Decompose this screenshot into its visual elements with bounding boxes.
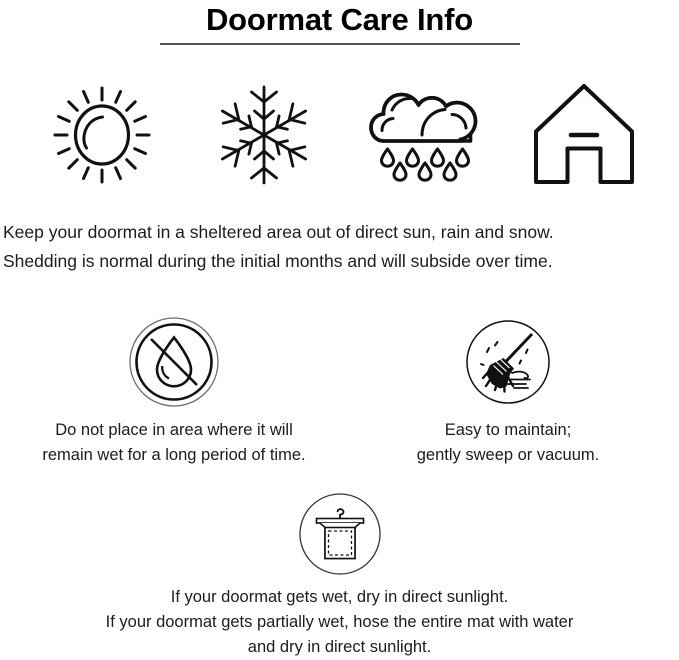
broom-icon xyxy=(462,316,554,408)
house-icon xyxy=(524,75,644,195)
care-line-3: and dry in direct sunlight. xyxy=(0,635,679,660)
care-caption-no-water: Do not place in area where it will remai… xyxy=(4,418,344,468)
weather-icon-row xyxy=(0,75,679,195)
care-line-1: Easy to maintain; xyxy=(338,418,678,443)
rain-cloud-icon xyxy=(364,75,484,195)
care-line-1: If your doormat gets wet, dry in direct … xyxy=(0,585,679,610)
intro-paragraph: Keep your doormat in a sheltered area ou… xyxy=(0,218,679,276)
snowflake-icon xyxy=(204,75,324,195)
care-item-no-water: Do not place in area where it will remai… xyxy=(4,316,344,468)
hang-to-dry-icon xyxy=(298,492,382,576)
care-line-2: If your doormat gets partially wet, hose… xyxy=(0,610,679,635)
care-item-hang-dry: If your doormat gets wet, dry in direct … xyxy=(0,492,679,660)
care-caption-hang-dry: If your doormat gets wet, dry in direct … xyxy=(0,585,679,660)
no-water-icon xyxy=(128,316,220,408)
intro-line-1: Keep your doormat in a sheltered area ou… xyxy=(3,218,679,247)
title-block: Doormat Care Info xyxy=(0,0,679,45)
care-caption-sweep: Easy to maintain; gently sweep or vacuum… xyxy=(338,418,678,468)
care-line-2: gently sweep or vacuum. xyxy=(338,443,678,468)
care-item-sweep: Easy to maintain; gently sweep or vacuum… xyxy=(338,316,678,468)
title-underline-rule xyxy=(160,43,520,45)
care-line-1: Do not place in area where it will xyxy=(4,418,344,443)
intro-line-2: Shedding is normal during the initial mo… xyxy=(3,247,679,276)
sun-icon xyxy=(42,75,162,195)
page-title: Doormat Care Info xyxy=(0,0,679,39)
care-line-2: remain wet for a long period of time. xyxy=(4,443,344,468)
